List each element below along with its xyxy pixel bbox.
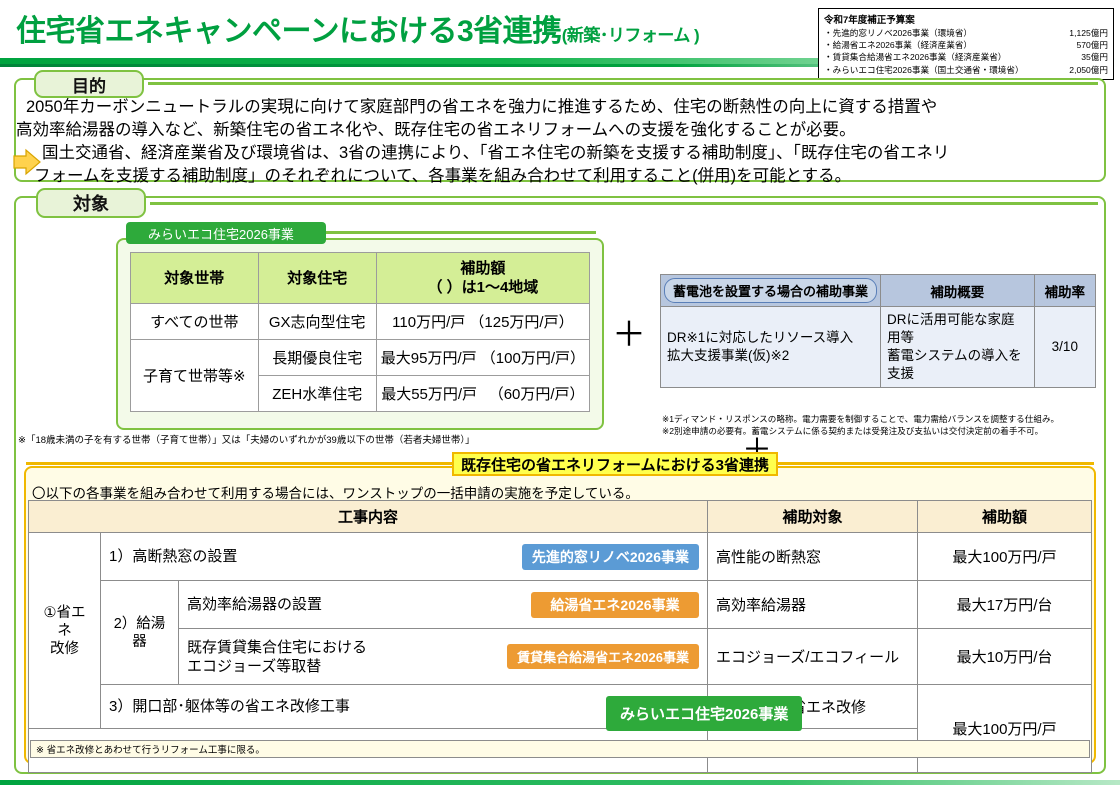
cell-household: すべての世帯 xyxy=(131,304,259,340)
cell-amount: 最大17万円/台 xyxy=(918,581,1092,629)
budget-item-name: ・みらいエコ住宅2026事業（国土交通省・環境省） xyxy=(824,64,1069,76)
target-section-tab: 対象 xyxy=(36,188,146,218)
work-label: 3）開口部･躯体等の省エネ改修工事 xyxy=(109,697,350,716)
budget-item-name: ・先進的窓リノベ2026事業（環境省） xyxy=(824,27,1069,39)
budget-box: 令和7年度補正予算案 ・先進的窓リノベ2026事業（環境省） 1,125億円 ・… xyxy=(818,8,1114,80)
work-label-line1: 既存賃貸集合住宅における xyxy=(187,639,367,656)
battery-program-pill: 蓄電池を設置する場合の補助事業 xyxy=(664,278,877,303)
budget-row: ・先進的窓リノベ2026事業（環境省） 1,125億円 xyxy=(824,27,1108,39)
work-label-line2: エコジョーズ等取替 xyxy=(187,658,321,675)
table-row: 2）給湯器 高効率給湯器の設置 給湯省エネ2026事業 高効率給湯器 最大17万… xyxy=(29,581,1092,629)
cell-battery-summary: DRに活用可能な家庭用等 蓄電システムの導入を支援 xyxy=(881,307,1035,388)
purpose-section-tab: 目的 xyxy=(34,70,144,98)
col-header-rate: 補助率 xyxy=(1034,275,1095,307)
budget-title: 令和7年度補正予算案 xyxy=(824,12,1108,26)
table-header-row: 蓄電池を設置する場合の補助事業 補助概要 補助率 xyxy=(661,275,1096,307)
purpose-tab-rule xyxy=(148,82,1098,85)
cell-group-energy-renovation: ①省エネ 改修 xyxy=(29,533,101,729)
cell-house-type: GX志向型住宅 xyxy=(258,304,376,340)
battery-footnote-1: ※1ディマンド・リスポンスの略称。電力需要を制御することで、電力需給バランスを調… xyxy=(662,414,1059,426)
cell-work-window: 1）高断熱窓の設置 先進的窓リノベ2026事業 xyxy=(101,533,708,581)
battery-footnote-2: ※2別途申請の必要有。蓄電システムに係る契約または受発注及び支払いは交付決定前の… xyxy=(662,426,1059,438)
mirai-tab-rule xyxy=(326,231,596,234)
table-row: 3）開口部･躯体等の省エネ改修工事 既存住宅の省エネ改修 最大100万円/戸 xyxy=(29,685,1092,729)
reform-footnote: ※ 省エネ改修とあわせて行うリフォーム工事に限る。 xyxy=(30,740,1090,758)
page-title-sub: (新築･リフォーム ) xyxy=(562,26,700,45)
cell-subgroup-water-heater: 2）給湯器 xyxy=(101,581,179,685)
target-tab-rule xyxy=(150,202,1098,205)
col-header-amount-line2: （ ）は1～4地域 xyxy=(379,278,587,297)
col-header-subsidy-target: 補助対象 xyxy=(708,501,918,533)
group-label-line1: ①省エネ xyxy=(37,604,92,640)
work-label: 高効率給湯器の設置 xyxy=(187,595,322,614)
col-header-battery-program: 蓄電池を設置する場合の補助事業 xyxy=(661,275,881,307)
cell-subsidy-target: 高効率給湯器 xyxy=(708,581,918,629)
battery-subsidy-table: 蓄電池を設置する場合の補助事業 補助概要 補助率 DR※1に対応したリソース導入… xyxy=(660,274,1096,388)
budget-item-amount: 35億円 xyxy=(1081,51,1108,63)
table-row: すべての世帯 GX志向型住宅 110万円/戸 （125万円/戸） xyxy=(131,304,590,340)
budget-item-name: ・給湯省エネ2026事業（経済産業省） xyxy=(824,39,1076,51)
cell-amount: 最大100万円/戸 xyxy=(918,685,1092,773)
reform-lead-text: 〇以下の各事業を組み合わせて利用する場合には、ワンストップの一括申請の実施を予定… xyxy=(32,482,639,502)
work-label: 既存賃貸集合住宅における エコジョーズ等取替 xyxy=(187,638,367,676)
bottom-divider xyxy=(0,780,1120,785)
purpose-line-2: 高効率給湯器の導入など、新築住宅の省エネ化や、既存住宅の省エネリフォームへの支援… xyxy=(16,119,856,141)
table-row: DR※1に対応したリソース導入 拡大支援事業(仮)※2 DRに活用可能な家庭用等… xyxy=(661,307,1096,388)
cell-battery-program: DR※1に対応したリソース導入 拡大支援事業(仮)※2 xyxy=(661,307,881,388)
cell-amount: 最大100万円/戸 xyxy=(918,533,1092,581)
group-label-line2: 改修 xyxy=(37,640,92,658)
col-header-amount: 補助額 xyxy=(918,501,1092,533)
cell-house-type: ZEH水準住宅 xyxy=(258,376,376,412)
table-row: 既存賃貸集合住宅における エコジョーズ等取替 賃貸集合給湯省エネ2026事業 エ… xyxy=(29,629,1092,685)
cell-amount: 最大10万円/台 xyxy=(918,629,1092,685)
reform-tab-rule-left xyxy=(26,462,454,465)
program-badge-mirai-eco-housing: みらいエコ住宅2026事業 xyxy=(606,696,802,731)
cell-work-heater: 高効率給湯器の設置 給湯省エネ2026事業 xyxy=(179,581,708,629)
battery-summary-line2: 蓄電システムの導入を支援 xyxy=(887,347,1028,383)
program-badge-mado-renove: 先進的窓リノベ2026事業 xyxy=(522,544,699,570)
program-badge-kyuto-shoene: 給湯省エネ2026事業 xyxy=(531,592,699,618)
cell-work-rental: 既存賃貸集合住宅における エコジョーズ等取替 賃貸集合給湯省エネ2026事業 xyxy=(179,629,708,685)
battery-program-line2: 拡大支援事業(仮)※2 xyxy=(667,347,874,365)
col-header-amount-line1: 補助額 xyxy=(379,259,587,278)
mirai-subsidy-table: 対象世帯 対象住宅 補助額 （ ）は1～4地域 すべての世帯 GX志向型住宅 1… xyxy=(130,252,590,412)
cell-subsidy-target: 高性能の断熱窓 xyxy=(708,533,918,581)
budget-item-amount: 2,050億円 xyxy=(1069,64,1108,76)
reform-tab-rule-right xyxy=(776,462,1094,465)
page-title: 住宅省エネキャンペーンにおける3省連携(新築･リフォーム ) xyxy=(16,6,699,50)
table-row: ①省エネ 改修 1）高断熱窓の設置 先進的窓リノベ2026事業 高性能の断熱窓 … xyxy=(29,533,1092,581)
cell-battery-rate: 3/10 xyxy=(1034,307,1095,388)
col-header-house-type: 対象住宅 xyxy=(258,253,376,304)
mirai-footnote: ※「18歳未満の子を有する世帯（子育て世帯）」又は「夫婦のいずれかが39歳以下の… xyxy=(18,432,475,446)
reform-section-tab: 既存住宅の省エネリフォームにおける3省連携 xyxy=(452,452,778,476)
cell-amount: 最大55万円/戸 （60万円/戸） xyxy=(376,376,589,412)
purpose-line-4: フォームを支援する補助制度」のそれぞれについて、各事業を組み合わせて利用すること… xyxy=(34,165,851,187)
cell-household: 子育て世帯等※ xyxy=(131,340,259,412)
work-label: 1）高断熱窓の設置 xyxy=(109,547,237,566)
table-row: 子育て世帯等※ 長期優良住宅 最大95万円/戸 （100万円/戸） xyxy=(131,340,590,376)
cell-subsidy-target: エコジョーズ/エコフィール xyxy=(708,629,918,685)
budget-item-amount: 570億円 xyxy=(1076,39,1108,51)
battery-summary-line1: DRに活用可能な家庭用等 xyxy=(887,311,1028,347)
budget-row: ・給湯省エネ2026事業（経済産業省） 570億円 xyxy=(824,39,1108,51)
budget-item-name: ・賃貸集合給湯省エネ2026事業（経済産業省） xyxy=(824,51,1081,63)
col-header-summary: 補助概要 xyxy=(881,275,1035,307)
cell-amount: 最大95万円/戸 （100万円/戸） xyxy=(376,340,589,376)
battery-footnotes: ※1ディマンド・リスポンスの略称。電力需要を制御することで、電力需給バランスを調… xyxy=(662,414,1059,437)
col-header-amount: 補助額 （ ）は1～4地域 xyxy=(376,253,589,304)
budget-item-amount: 1,125億円 xyxy=(1069,27,1108,39)
reform-subsidy-table: 工事内容 補助対象 補助額 ①省エネ 改修 1）高断熱窓の設置 先進的窓リノベ2… xyxy=(28,500,1092,773)
mirai-eco-housing-badge: みらいエコ住宅2026事業 xyxy=(126,222,326,244)
col-header-work: 工事内容 xyxy=(29,501,708,533)
page-title-main: 住宅省エネキャンペーンにおける3省連携 xyxy=(16,15,562,48)
table-header-row: 工事内容 補助対象 補助額 xyxy=(29,501,1092,533)
cell-amount: 110万円/戸 （125万円/戸） xyxy=(376,304,589,340)
program-badge-chintai-kyuto: 賃貸集合給湯省エネ2026事業 xyxy=(507,644,699,669)
cell-house-type: 長期優良住宅 xyxy=(258,340,376,376)
plus-sign-1: ＋ xyxy=(612,318,646,352)
purpose-line-3: 国土交通省、経済産業省及び環境省は、3省の連携により、「省エネ住宅の新築を支援す… xyxy=(42,142,949,164)
col-header-household: 対象世帯 xyxy=(131,253,259,304)
battery-program-line1: DR※1に対応したリソース導入 xyxy=(667,329,874,347)
table-header-row: 対象世帯 対象住宅 補助額 （ ）は1～4地域 xyxy=(131,253,590,304)
budget-row: ・みらいエコ住宅2026事業（国土交通省・環境省） 2,050億円 xyxy=(824,64,1108,76)
budget-row: ・賃貸集合給湯省エネ2026事業（経済産業省） 35億円 xyxy=(824,51,1108,63)
purpose-line-1: 2050年カーボンニュートラルの実現に向けて家庭部門の省エネを強力に推進するため… xyxy=(26,96,937,118)
